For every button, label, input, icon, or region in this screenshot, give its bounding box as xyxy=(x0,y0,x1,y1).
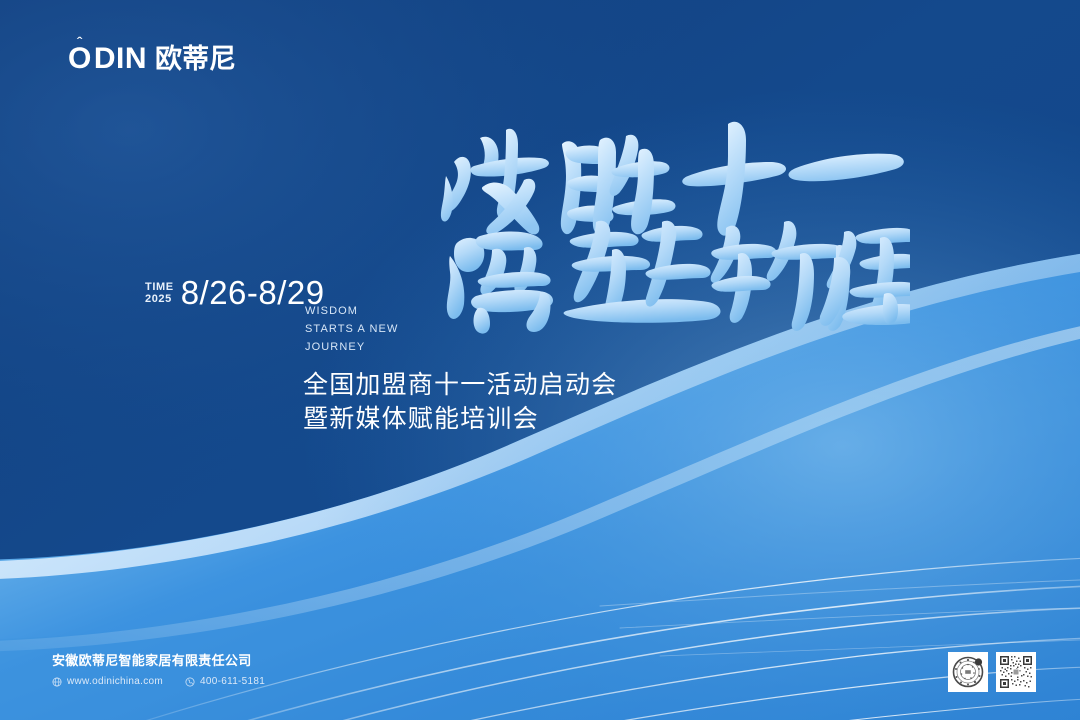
phone-contact[interactable]: 400-611-5181 xyxy=(185,676,265,688)
phone-text: 400-611-5181 xyxy=(200,676,265,688)
circular-code-icon xyxy=(951,655,985,689)
english-tagline: WISDOM STARTS A NEW JOURNEY xyxy=(305,302,398,356)
subtitle-line-2: 暨新媒体赋能培训会 xyxy=(303,402,617,436)
headline-line-1 xyxy=(441,129,549,235)
logo-o-mark: ˆ O xyxy=(68,44,91,74)
date-range-value: 8/26-8/29 xyxy=(181,276,325,309)
phone-icon xyxy=(185,677,195,687)
brand-logo[interactable]: ˆ O DIN 欧蒂尼 xyxy=(68,44,236,74)
tagline-line-1: WISDOM xyxy=(305,302,398,320)
website-text: www.odinichina.com xyxy=(67,676,163,688)
date-label-stack: TIME 2025 xyxy=(145,281,174,309)
headline-svg xyxy=(440,110,910,340)
headline-char-sheng xyxy=(561,135,676,234)
contact-row: www.odinichina.com 400-611-5181 xyxy=(52,676,265,688)
poster-canvas: ˆ O DIN 欧蒂尼 xyxy=(0,0,1080,720)
headline-char-shi xyxy=(682,122,786,236)
wechat-miniprogram-code[interactable] xyxy=(948,652,988,692)
event-date-block: TIME 2025 8/26-8/29 xyxy=(145,276,325,309)
logo-chinese-name: 欧蒂尼 xyxy=(155,46,236,73)
headline-line-2 xyxy=(447,232,553,334)
headline-calligraphy xyxy=(440,110,910,340)
tagline-line-2: STARTS A NEW xyxy=(305,320,398,338)
subtitle-line-1: 全国加盟商十一活动启动会 xyxy=(303,368,617,402)
globe-icon xyxy=(52,677,62,687)
event-subtitle: 全国加盟商十一活动启动会 暨新媒体赋能培训会 xyxy=(303,368,617,436)
headline-char-qi xyxy=(564,221,721,323)
qr-code-icon xyxy=(999,655,1033,689)
headline-char-yi xyxy=(789,154,904,182)
circumflex-accent-icon: ˆ xyxy=(77,35,82,52)
background-artwork xyxy=(0,0,1080,720)
code-group xyxy=(948,652,1036,692)
headline-char-cheng xyxy=(820,228,910,326)
footer-block: 安徽欧蒂尼智能家居有限责任公司 www.odinichina.com 400-6… xyxy=(52,652,265,688)
company-name: 安徽欧蒂尼智能家居有限责任公司 xyxy=(52,652,265,670)
website-contact[interactable]: www.odinichina.com xyxy=(52,676,163,688)
tagline-line-3: JOURNEY xyxy=(305,338,398,356)
date-time-label: TIME xyxy=(145,281,174,293)
date-year-label: 2025 xyxy=(145,293,174,305)
qr-code[interactable] xyxy=(996,652,1036,692)
logo-wordmark: DIN xyxy=(94,44,147,74)
